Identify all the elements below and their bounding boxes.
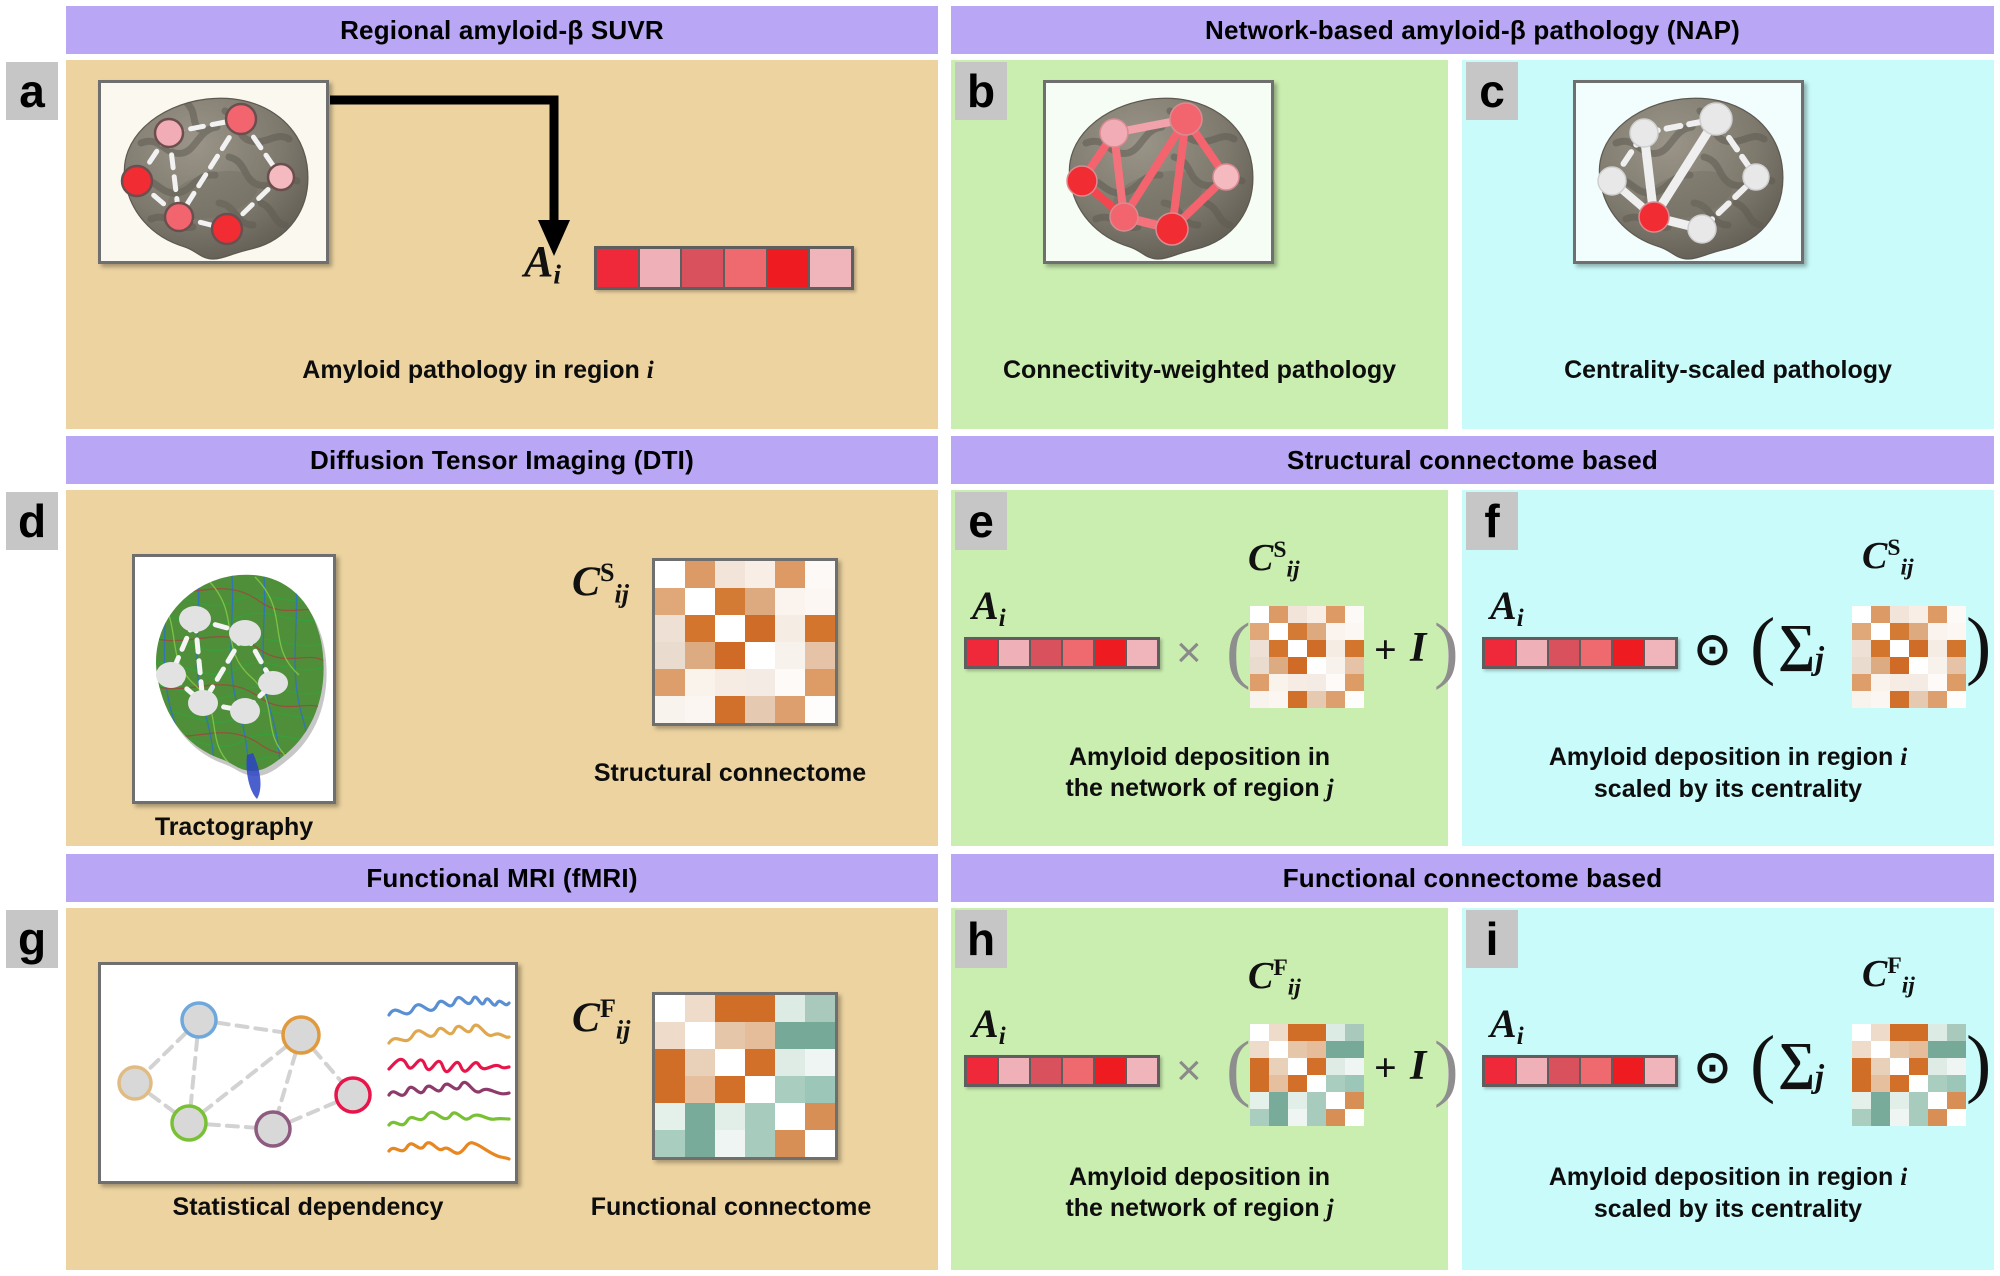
functional-connectome-matrix-h bbox=[1250, 1024, 1364, 1126]
amyloid-vector-h bbox=[964, 1055, 1160, 1087]
panel-i-caption-line2: scaled by its centrality bbox=[1466, 1194, 1990, 1225]
statistical-dependency-image bbox=[98, 962, 518, 1184]
panel-b-tag: b bbox=[955, 62, 1007, 120]
panel-h-paren-open: ( bbox=[1226, 1026, 1251, 1111]
panel-g-caption-statistical-dependency: Statistical dependency bbox=[98, 1192, 518, 1223]
header-structural-connectome-based-label: Structural connectome based bbox=[1287, 445, 1658, 476]
amyloid-vector-a bbox=[594, 246, 854, 290]
panel-f-caption: Amyloid deposition in region i scaled by… bbox=[1466, 742, 1990, 804]
header-fmri-label: Functional MRI (fMRI) bbox=[366, 863, 637, 894]
structural-connectome-matrix-d bbox=[652, 558, 838, 726]
panel-f-caption-line2: scaled by its centrality bbox=[1466, 774, 1990, 805]
panel-i-matrix-label: CFij bbox=[1862, 952, 1915, 1000]
panel-a-tag: a bbox=[6, 62, 58, 120]
structural-connectome-matrix-e bbox=[1250, 606, 1364, 708]
panel-g-matrix-label: CFij bbox=[572, 994, 630, 1046]
panel-d-tag: d bbox=[6, 492, 58, 550]
panel-h-identity: I bbox=[1410, 1042, 1426, 1090]
panel-i-tag: i bbox=[1466, 910, 1518, 968]
panel-d-tag-label: d bbox=[18, 498, 46, 544]
tractography-render bbox=[135, 557, 333, 801]
panel-f-vector-label: Ai bbox=[1490, 582, 1524, 633]
panel-d-caption-structural-connectome: Structural connectome bbox=[540, 758, 920, 789]
panel-h-multiply-operator: × bbox=[1176, 1046, 1202, 1096]
amyloid-vector-f bbox=[1482, 637, 1678, 669]
panel-e-tag: e bbox=[955, 492, 1007, 550]
brain-surface-a bbox=[101, 83, 326, 261]
header-regional-suvr-label: Regional amyloid-β SUVR bbox=[340, 15, 664, 46]
fmri-network-nodes bbox=[119, 1003, 370, 1146]
panel-e-identity: I bbox=[1410, 624, 1426, 672]
brain-image-b bbox=[1043, 80, 1274, 264]
functional-connectome-matrix-i bbox=[1852, 1024, 1966, 1126]
panel-c-caption: Centrality-scaled pathology bbox=[1466, 355, 1990, 386]
panel-b-caption: Connectivity-weighted pathology bbox=[955, 355, 1444, 386]
header-regional-suvr: Regional amyloid-β SUVR bbox=[66, 6, 938, 54]
header-nap: Network-based amyloid-β pathology (NAP) bbox=[951, 6, 1994, 54]
header-functional-connectome-based: Functional connectome based bbox=[951, 854, 1994, 902]
panel-i-caption: Amyloid deposition in region i scaled by… bbox=[1466, 1162, 1990, 1224]
panel-a-caption: Amyloid pathology in region i bbox=[98, 355, 858, 387]
panel-f-matrix-label: CSij bbox=[1862, 534, 1914, 582]
brain-image-c bbox=[1573, 80, 1804, 264]
panel-d-matrix-label: CSij bbox=[572, 558, 629, 610]
panel-c-tag-label: c bbox=[1479, 68, 1505, 114]
tractography-image bbox=[132, 554, 336, 804]
panel-g-caption-functional-connectome: Functional connectome bbox=[546, 1192, 916, 1223]
panel-e-paren-close: ) bbox=[1434, 608, 1459, 693]
panel-a-tag-label: a bbox=[19, 68, 45, 114]
structural-connectome-matrix-f bbox=[1852, 606, 1966, 708]
panel-e-caption: Amyloid deposition in the network of reg… bbox=[955, 742, 1444, 804]
panel-h-plus: + bbox=[1374, 1044, 1397, 1091]
amyloid-vector-i bbox=[1482, 1055, 1678, 1087]
panel-h-vector-label: Ai bbox=[972, 1000, 1006, 1051]
header-structural-connectome-based: Structural connectome based bbox=[951, 436, 1994, 484]
panel-f-hadamard-operator: ⊙ bbox=[1694, 624, 1731, 675]
panel-f-tag-label: f bbox=[1484, 498, 1499, 544]
panel-h-caption: Amyloid deposition in the network of reg… bbox=[955, 1162, 1444, 1224]
panel-e-vector-label: Ai bbox=[972, 582, 1006, 633]
header-nap-label: Network-based amyloid-β pathology (NAP) bbox=[1205, 15, 1740, 46]
panel-c-tag: c bbox=[1466, 62, 1518, 120]
header-fmri: Functional MRI (fMRI) bbox=[66, 854, 938, 902]
panel-i-vector-label: Ai bbox=[1490, 1000, 1524, 1051]
fmri-timeseries bbox=[389, 997, 509, 1159]
header-dti-label: Diffusion Tensor Imaging (DTI) bbox=[310, 445, 694, 476]
panel-h-caption-line2: the network of region j bbox=[955, 1193, 1444, 1225]
brain-surface-b bbox=[1046, 83, 1271, 261]
amyloid-vector-e bbox=[964, 637, 1160, 669]
panel-b-tag-label: b bbox=[967, 68, 995, 114]
brain-surface-c bbox=[1576, 83, 1801, 261]
panel-h-tag: h bbox=[955, 910, 1007, 968]
panel-i-caption-line1: Amyloid deposition in region i bbox=[1466, 1162, 1990, 1194]
panel-g-tag: g bbox=[6, 910, 58, 968]
panel-h-caption-line1: Amyloid deposition in bbox=[955, 1162, 1444, 1193]
panel-e-paren-open: ( bbox=[1226, 608, 1251, 693]
panel-h-paren-close: ) bbox=[1434, 1026, 1459, 1111]
panel-e-caption-line2: the network of region j bbox=[955, 773, 1444, 805]
panel-f-paren-open: ( bbox=[1750, 602, 1775, 689]
panel-e-multiply-operator: × bbox=[1176, 628, 1202, 678]
functional-connectome-matrix-g bbox=[652, 992, 838, 1160]
panel-f-paren-close: ) bbox=[1966, 602, 1991, 689]
panel-f-caption-line1: Amyloid deposition in region i bbox=[1466, 742, 1990, 774]
panel-e-tag-label: e bbox=[968, 498, 994, 544]
panel-i-paren-open: ( bbox=[1750, 1020, 1775, 1107]
panel-g-tag-label: g bbox=[18, 916, 46, 962]
panel-e-caption-line1: Amyloid deposition in bbox=[955, 742, 1444, 773]
panel-d-caption-tractography: Tractography bbox=[132, 812, 336, 843]
fmri-network-and-timeseries bbox=[101, 965, 515, 1181]
brain-image-a bbox=[98, 80, 329, 264]
panel-i-tag-label: i bbox=[1486, 916, 1499, 962]
header-functional-connectome-based-label: Functional connectome based bbox=[1283, 863, 1663, 894]
panel-f-sum-operator: ∑j bbox=[1778, 614, 1824, 677]
panel-f-tag: f bbox=[1466, 492, 1518, 550]
figure-root: Regional amyloid-β SUVR Network-based am… bbox=[0, 0, 2000, 1276]
panel-i-hadamard-operator: ⊙ bbox=[1694, 1042, 1731, 1093]
panel-e-matrix-label: CSij bbox=[1248, 536, 1300, 584]
panel-e-plus: + bbox=[1374, 626, 1397, 673]
panel-i-paren-close: ) bbox=[1966, 1020, 1991, 1107]
panel-h-tag-label: h bbox=[967, 916, 995, 962]
header-dti: Diffusion Tensor Imaging (DTI) bbox=[66, 436, 938, 484]
panel-a-vector-label: Ai bbox=[524, 236, 561, 291]
arrow-to-vector bbox=[326, 88, 616, 268]
panel-i-sum-operator: ∑j bbox=[1778, 1032, 1824, 1095]
panel-h-matrix-label: CFij bbox=[1248, 954, 1301, 1002]
